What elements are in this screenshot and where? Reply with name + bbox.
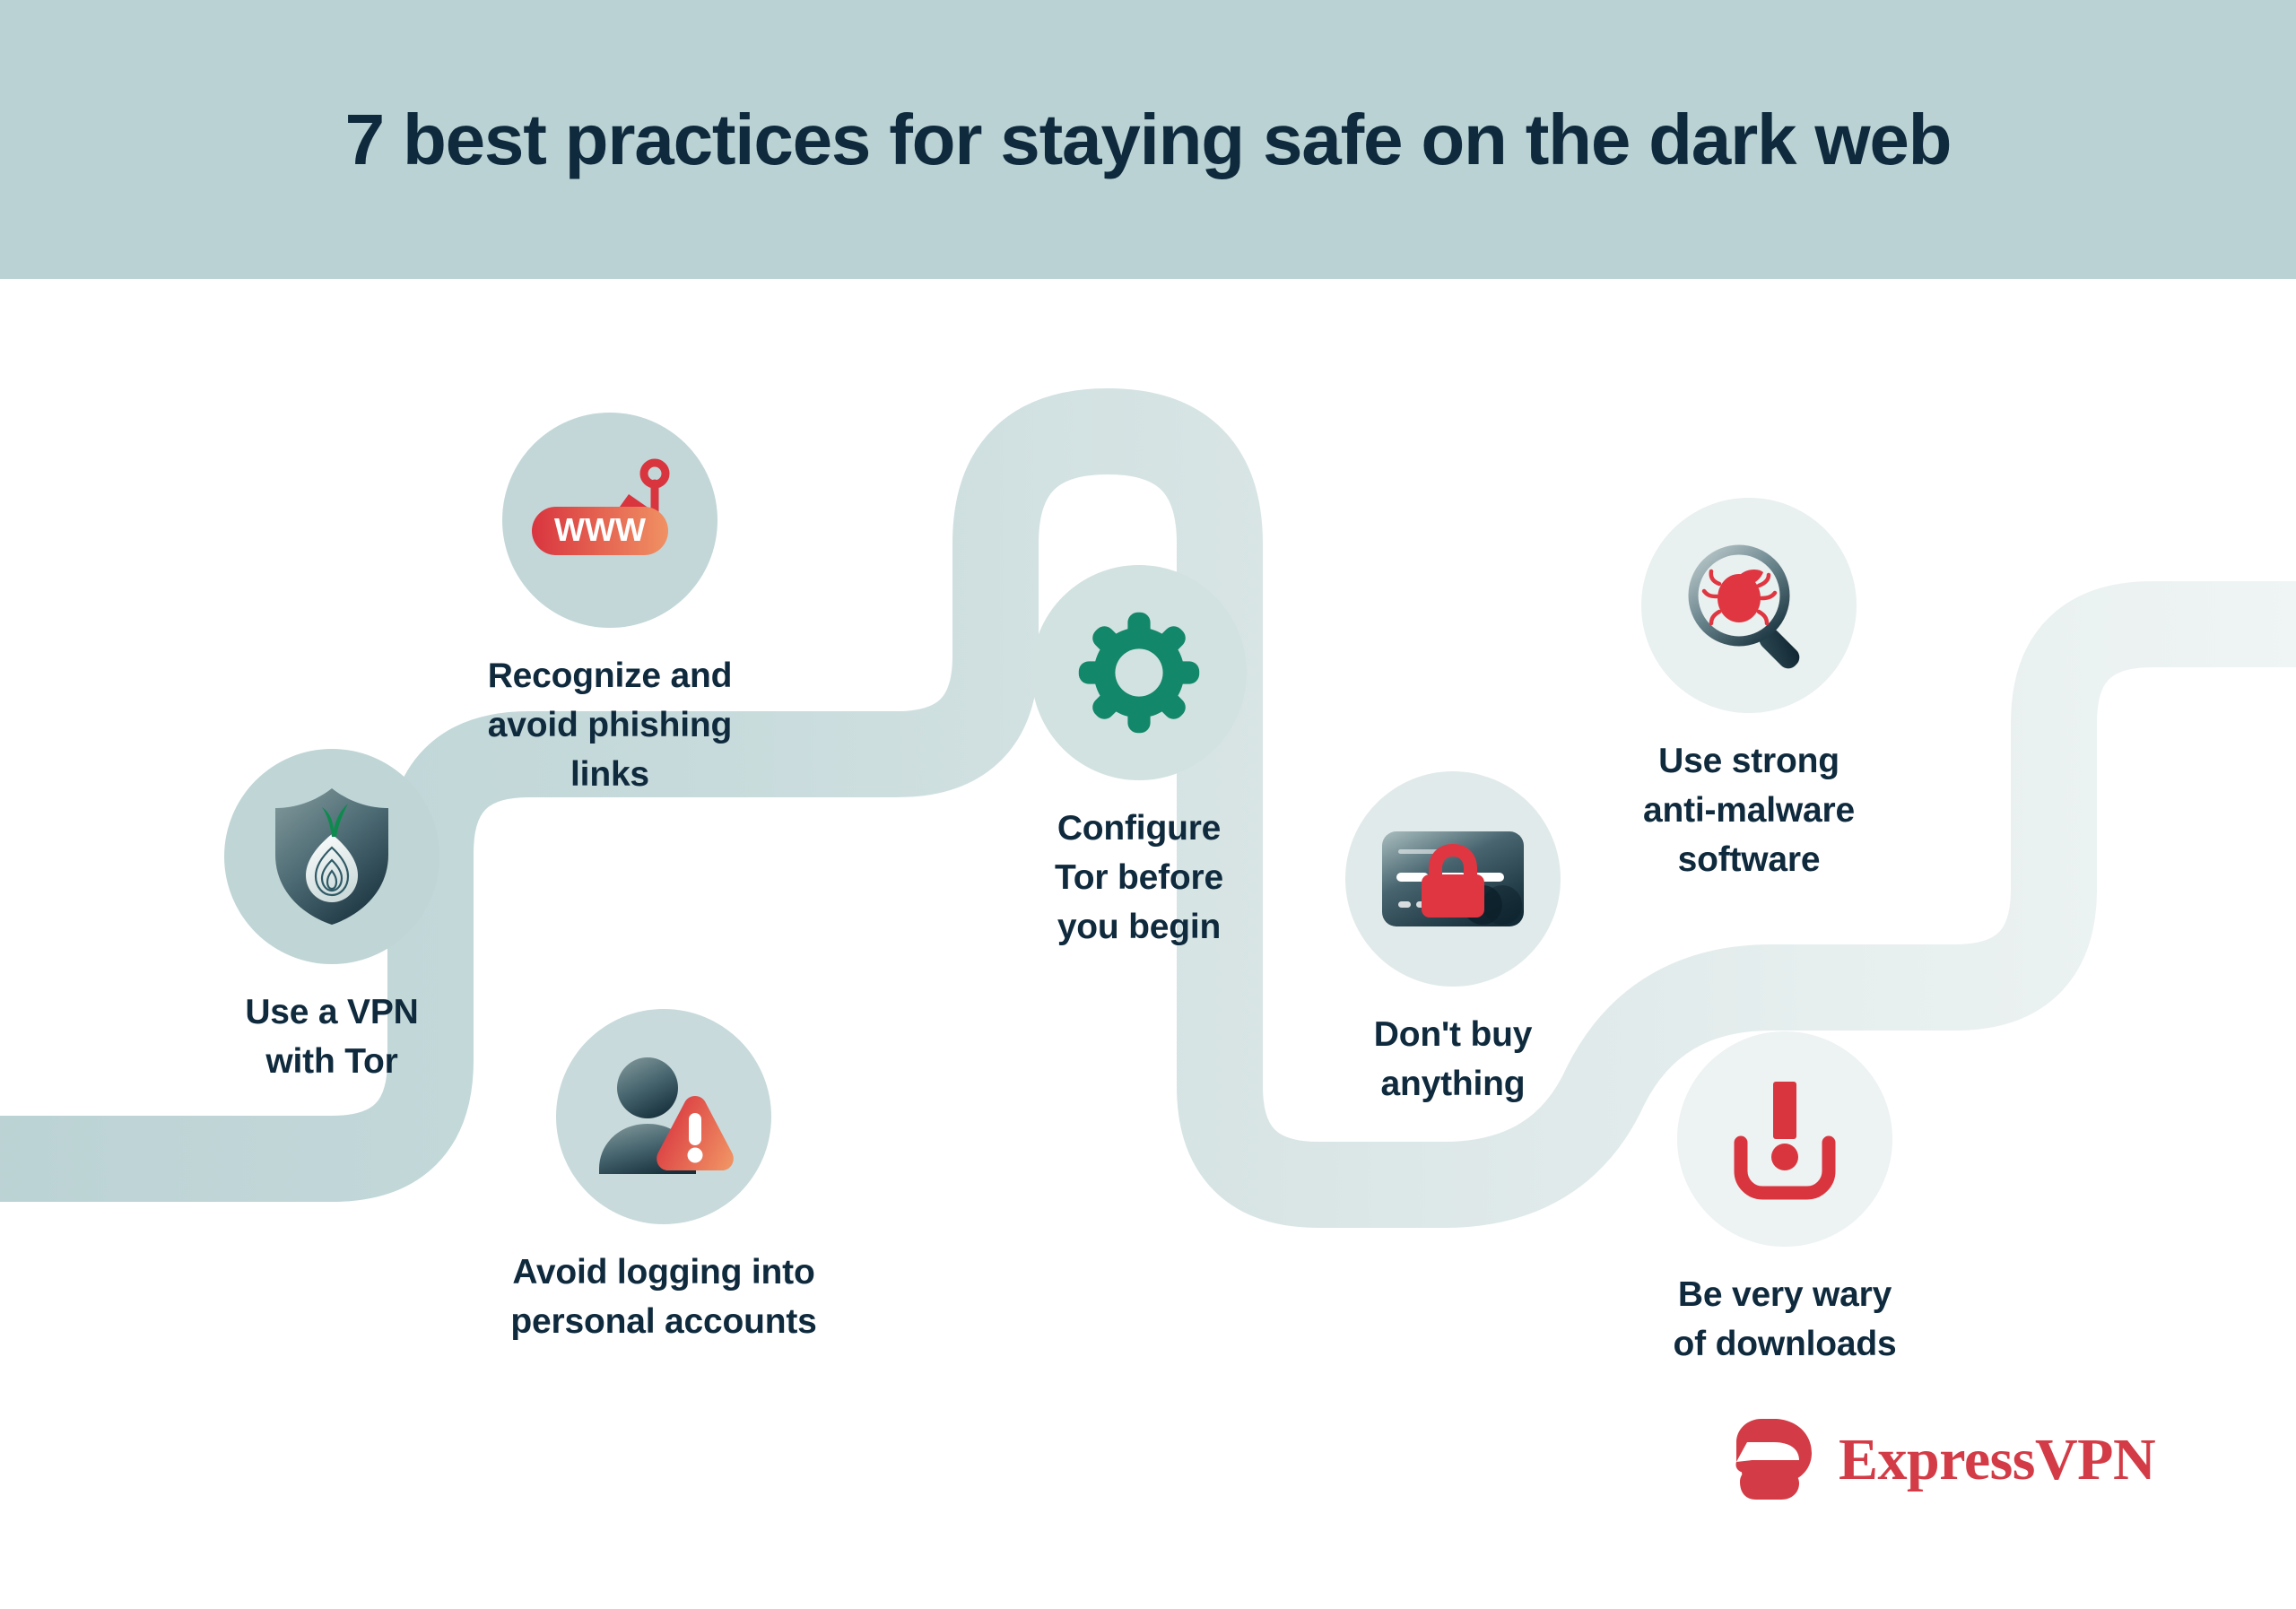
step-be-very-wary-of-downloads: Be very wary of downloads [1507, 1031, 2063, 1369]
step-icon-badge [1031, 565, 1247, 780]
tor-shield-icon [265, 785, 399, 928]
step-icon-badge [1677, 1031, 1892, 1247]
step-use-strong-anti-malware-software: Use strong anti-malware software [1471, 498, 2027, 884]
step-label: Be very wary of downloads [1674, 1270, 1897, 1369]
brand-logo: ExpressVPN [1733, 1415, 2155, 1505]
step-icon-badge: WWW [502, 413, 717, 628]
page-title: 7 best practices for staying safe on the… [0, 0, 2296, 279]
step-avoid-logging-into-personal-accounts: Avoid logging into personal accounts [386, 1009, 942, 1346]
phishing-hook-icon: WWW [526, 453, 693, 587]
step-recognize-avoid-phishing-links: WWW Recognize and avoid phishing links [377, 413, 843, 799]
step-icon-badge [1641, 498, 1857, 713]
step-label: Recognize and avoid phishing links [488, 651, 733, 799]
expressvpn-e-icon [1733, 1415, 1819, 1505]
infographic-canvas: 7 best practices for staying safe on the… [0, 0, 2296, 1609]
phishing-url-text: WWW [554, 511, 646, 548]
download-warning-icon [1726, 1078, 1843, 1200]
gear-icon [1076, 610, 1202, 735]
user-warning-icon [592, 1052, 735, 1182]
step-label: Avoid logging into personal accounts [510, 1248, 816, 1346]
magnifier-bug-icon [1683, 539, 1815, 672]
brand-wordmark: ExpressVPN [1839, 1431, 2155, 1490]
step-icon-badge [556, 1009, 771, 1224]
step-label: Use strong anti-malware software [1643, 736, 1855, 884]
